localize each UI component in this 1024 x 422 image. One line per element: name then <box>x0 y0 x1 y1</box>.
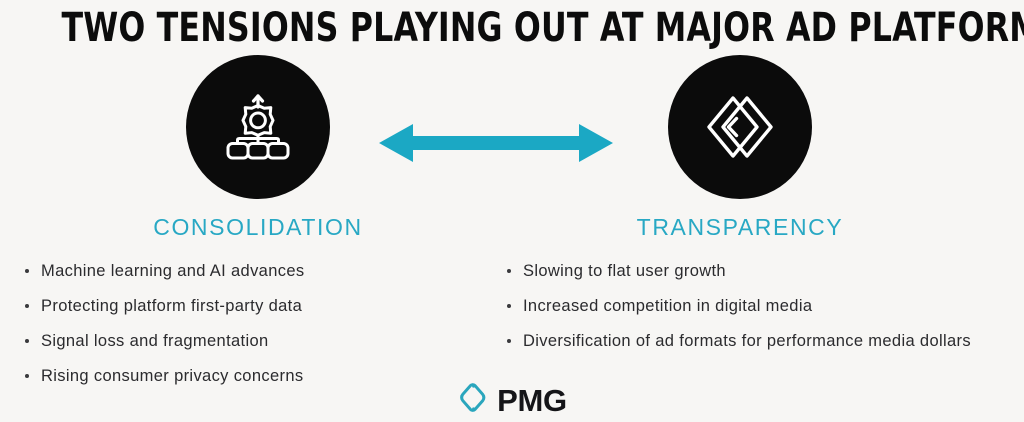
list-item: Protecting platform first-party data <box>23 296 493 316</box>
pmg-diamond-mark-icon <box>457 382 490 418</box>
bullet-dot-icon <box>507 339 511 343</box>
list-item: Diversification of ad formats for perfor… <box>505 331 975 351</box>
list-item-label: Increased competition in digital media <box>523 297 812 315</box>
infographic-root: TWO TENSIONS PLAYING OUT AT MAJOR AD PLA… <box>0 0 1024 422</box>
list-item-label: Slowing to flat user growth <box>523 262 726 280</box>
badge-consolidation <box>186 55 330 199</box>
column-label-transparency: TRANSPARENCY <box>505 214 975 241</box>
list-item-label: Diversification of ad formats for perfor… <box>523 332 971 350</box>
transparency-diamonds-icon <box>700 87 780 167</box>
list-item: Signal loss and fragmentation <box>23 331 493 351</box>
list-item: Machine learning and AI advances <box>23 261 493 281</box>
page-title: TWO TENSIONS PLAYING OUT AT MAJOR AD PLA… <box>61 6 962 50</box>
list-item-label: Protecting platform first-party data <box>41 297 302 315</box>
column-consolidation: CONSOLIDATION Machine learning and AI ad… <box>23 55 493 401</box>
double-headed-arrow <box>379 119 613 167</box>
column-transparency: TRANSPARENCY Slowing to flat user growth… <box>505 55 975 366</box>
list-item-label: Signal loss and fragmentation <box>41 332 269 350</box>
consolidation-hierarchy-icon <box>219 88 297 166</box>
column-label-consolidation: CONSOLIDATION <box>23 214 493 241</box>
bullet-list-transparency: Slowing to flat user growth Increased co… <box>505 261 975 351</box>
badge-transparency <box>668 55 812 199</box>
pmg-logo: PMG <box>0 382 1024 418</box>
bullet-dot-icon <box>507 269 511 273</box>
bullet-list-consolidation: Machine learning and AI advances Protect… <box>23 261 493 386</box>
bullet-dot-icon <box>507 304 511 308</box>
list-item: Slowing to flat user growth <box>505 261 975 281</box>
pmg-logo-text: PMG <box>497 385 567 416</box>
list-item-label: Machine learning and AI advances <box>41 262 304 280</box>
bullet-dot-icon <box>25 339 29 343</box>
bullet-dot-icon <box>25 374 29 378</box>
bullet-dot-icon <box>25 269 29 273</box>
bullet-dot-icon <box>25 304 29 308</box>
list-item: Increased competition in digital media <box>505 296 975 316</box>
